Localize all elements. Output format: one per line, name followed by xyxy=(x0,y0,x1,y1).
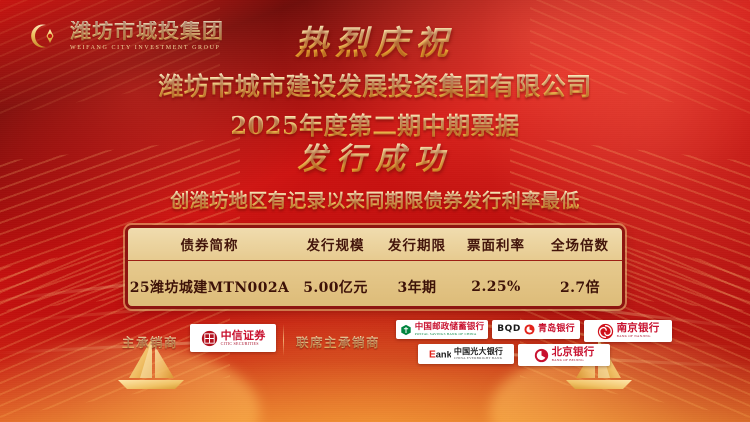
nanjing-name-en: BANK OF NANJING xyxy=(617,335,660,338)
company-name-line: 潍坊市城市建设发展投资集团有限公司 xyxy=(0,67,750,103)
beijing-name-cn: 北京银行 xyxy=(552,347,595,358)
underwriter-band: 主承销商 联席主承销商 中信证券 CITIC SECURITIES xyxy=(0,318,750,380)
logo-postal-savings-bank: 中国邮政储蓄银行 POSTAL SAVINGS BANK OF CHINA xyxy=(396,320,488,339)
logo-bank-of-qingdao: BQD 青岛银行 xyxy=(492,320,580,339)
cell-issue-term: 3年期 xyxy=(380,261,454,307)
citic-name-cn: 中信证券 xyxy=(221,330,266,341)
brand-logo: 潍坊市城投集团 WEIFANG CITY INVESTMENT GROUP xyxy=(22,16,224,56)
brand-name-cn: 潍坊市城投集团 xyxy=(70,21,224,42)
record-subtitle: 创潍坊地区有记录以来同期限债券发行利率最低 xyxy=(0,186,750,213)
brand-name-en: WEIFANG CITY INVESTMENT GROUP xyxy=(70,45,224,51)
header-coupon-rate: 票面利率 xyxy=(454,228,538,261)
bond-table-panel: 债券简称 发行规模 发行期限 票面利率 全场倍数 25潍坊城建MTN002A 5… xyxy=(128,228,622,306)
citic-seal-icon xyxy=(201,330,218,347)
header-subscription-multiple: 全场倍数 xyxy=(538,228,622,261)
logo-bank-of-beijing: 北京银行 BANK OF BEIJING xyxy=(518,344,610,366)
logo-citic-securities: 中信证券 CITIC SECURITIES xyxy=(190,324,276,352)
psbc-name-cn: 中国邮政储蓄银行 xyxy=(415,323,485,332)
header-issue-term: 发行期限 xyxy=(380,228,454,261)
underwriter-divider xyxy=(283,324,284,356)
crescent-emblem-icon xyxy=(22,16,62,56)
nanjing-rose-icon xyxy=(597,323,614,340)
table-row: 25潍坊城建MTN002A 5.00亿元 3年期 2.25% 2.7倍 xyxy=(128,261,622,307)
psbc-name-en: POSTAL SAVINGS BANK OF CHINA xyxy=(415,333,485,336)
beijing-name-en: BANK OF BEIJING xyxy=(552,359,595,362)
everbright-name-cn: 中国光大银行 xyxy=(454,348,503,356)
beijing-icon xyxy=(534,348,549,363)
logo-china-everbright-bank: E ank 中国光大银行 CHINA EVERBRIGHT BANK xyxy=(418,344,514,364)
header-bond-name: 债券简称 xyxy=(128,228,291,261)
celebration-poster: 潍坊市城投集团 WEIFANG CITY INVESTMENT GROUP 热烈… xyxy=(0,0,750,422)
cell-bond-name: 25潍坊城建MTN002A xyxy=(128,261,291,307)
cell-coupon-rate: 2.25% xyxy=(454,261,538,307)
header-issue-size: 发行规模 xyxy=(291,228,380,261)
bond-table: 债券简称 发行规模 发行期限 票面利率 全场倍数 25潍坊城建MTN002A 5… xyxy=(128,228,622,306)
lead-underwriter-label: 主承销商 xyxy=(122,332,178,351)
everbright-icon: E ank xyxy=(429,348,451,360)
success-title: 发行成功 xyxy=(0,141,750,179)
cell-issue-size: 5.00亿元 xyxy=(291,261,380,307)
table-header-row: 债券简称 发行规模 发行期限 票面利率 全场倍数 xyxy=(128,228,622,261)
logo-bank-of-nanjing: 南京银行 BANK OF NANJING xyxy=(584,320,672,342)
cell-subscription-multiple: 2.7倍 xyxy=(538,261,622,307)
bqd-icon xyxy=(524,324,535,335)
joint-underwriter-label: 联席主承销商 xyxy=(296,332,380,351)
citic-name-en: CITIC SECURITIES xyxy=(221,342,266,346)
nanjing-name-cn: 南京银行 xyxy=(617,323,660,334)
svg-text:ank: ank xyxy=(436,349,451,359)
psbc-icon xyxy=(400,324,412,336)
bqd-name-en: BQD xyxy=(497,325,521,334)
issue-name-line: 2025年度第二期中期票据 xyxy=(0,106,750,141)
bqd-name-cn: 青岛银行 xyxy=(538,325,575,334)
everbright-name-en: CHINA EVERBRIGHT BANK xyxy=(454,357,503,360)
